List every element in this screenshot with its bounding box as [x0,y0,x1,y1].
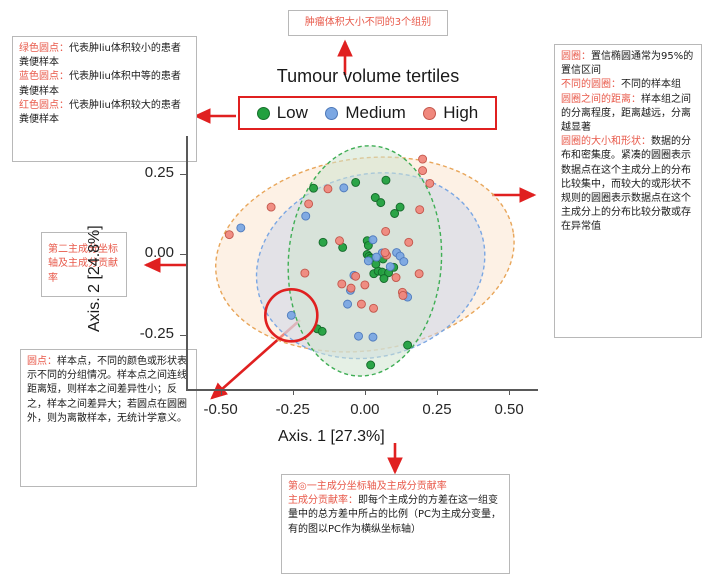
y-tick [180,254,186,255]
scatter-plot-canvas [186,136,538,389]
annotation-box-confidence-ellipse: 圆圈：置信椭圆通常为95%的置信区间 不同的圆圈：不同的样本组 圆圈之间的距离：… [554,44,702,338]
x-tick [221,389,222,395]
annotation-line-axis1-body: 主成分贡献率：即每个主成分的方差在这一组变量中的总方差中所占的比例（PC为主成分… [288,494,503,537]
legend-label-low: Low [277,103,308,123]
scatter-point-low [404,341,412,349]
scatter-point-high [335,237,343,245]
annotation-box-dot-colors: 绿色圆点：代表肿liu体积较小的患者粪便样本 蓝色圆点：代表肿liu体积中等的患… [12,36,197,162]
x-tick [509,389,510,395]
scatter-point-high [416,206,424,214]
scatter-point-high [415,270,423,278]
scatter-point-medium [369,333,377,341]
annotation-box-sample-points: 圆点：样本点，不同的颜色或形状表示不同的分组情况。样本点之间连线距离短，则样本之… [20,349,197,487]
scatter-point-high [382,227,390,235]
annotation-box-axis1: 第◎一主成分坐标轴及主成分贡献率 主成分贡献率：即每个主成分的方差在这一组变量中… [281,474,510,574]
scatter-point-low [318,327,326,335]
y-tick [180,335,186,336]
scatter-point-medium [369,236,377,244]
annotation-text-tumour-groups: 肿瘤体积大小不同的3个组别 [305,16,431,30]
scatter-point-high [357,300,365,308]
x-tick-label: -0.50 [199,401,243,418]
scatter-point-low [377,199,385,207]
annotation-line-green: 绿色圆点：代表肿liu体积较小的患者粪便样本 [19,42,190,70]
scatter-point-medium [344,300,352,308]
scatter-point-medium [287,311,295,319]
annotation-line-blue: 蓝色圆点：代表肿liu体积中等的患者粪便样本 [19,70,190,98]
scatter-point-medium [302,212,310,220]
legend-dot-high [423,107,436,120]
y-axis-line [186,136,188,389]
y-tick-label: 0.25 [128,164,174,181]
scatter-point-medium [386,263,394,271]
scatter-point-medium [400,258,408,266]
scatter-point-medium [372,253,380,261]
x-tick [437,389,438,395]
x-axis-title: Axis. 1 [27.3%] [278,428,385,446]
annotation-box-axis2: 第二主成分坐标轴及主成分贡献率 [41,232,127,297]
y-tick-label: -0.25 [128,325,174,342]
scatter-point-medium [340,184,348,192]
scatter-point-low [380,275,388,283]
annotation-line-red: 红色圆点：代表肿liu体积较大的患者粪便样本 [19,99,190,127]
x-tick-label: -0.25 [271,401,315,418]
legend-item-medium[interactable]: Medium [325,103,405,123]
y-axis-title: Axis. 2 [24.8%] [86,225,104,332]
x-tick [293,389,294,395]
y-tick [180,174,186,175]
annotation-line-axis1-title: 第◎一主成分坐标轴及主成分贡献率 [288,480,503,494]
scatter-point-low [391,210,399,218]
annotation-text-sample-points: 圆点：样本点，不同的颜色或形状表示不同的分组情况。样本点之间连线距离短，则样本之… [27,355,190,426]
scatter-point-high [419,155,427,163]
legend-item-low[interactable]: Low [257,103,308,123]
chart-title: Tumour volume tertiles [228,66,508,87]
scatter-point-low [310,184,318,192]
scatter-point-high [426,179,434,187]
y-tick-label: 0.00 [128,244,174,261]
x-axis-line [186,389,538,391]
annotation-text-axis2: 第二主成分坐标轴及主成分贡献率 [48,243,120,286]
annotation-para-ellipse-def: 圆圈：置信椭圆通常为95%的置信区间 [561,50,695,78]
annotation-box-tumour-groups: 肿瘤体积大小不同的3个组别 [288,10,448,36]
scatter-point-high [305,200,313,208]
annotation-para-ellipse-distance: 圆圈之间的距离：样本组之间的分离程度，距离越远，分离越显著 [561,93,695,136]
scatter-point-high [352,272,360,280]
x-tick-label: 0.25 [415,401,459,418]
pcoa-scatter-chart: Tumour volume tertiles Low Medium High -… [186,136,538,436]
scatter-point-low [367,361,375,369]
scatter-point-high [361,281,369,289]
x-tick-label: 0.00 [343,401,387,418]
scatter-point-low [396,203,404,211]
scatter-point-high [392,274,400,282]
legend-dot-low [257,107,270,120]
x-tick-label: 0.50 [487,401,531,418]
annotation-para-ellipse-shape: 圆圈的大小和形状：数据的分布和密集度。紧凑的圆圈表示数据点在这个主成分上的分布比… [561,135,695,234]
scatter-point-high [324,185,332,193]
plot-area [186,136,538,389]
scatter-point-high [338,280,346,288]
scatter-point-medium [364,257,372,265]
scatter-point-high [405,238,413,246]
scatter-point-high [419,167,427,175]
legend-item-high[interactable]: High [423,103,478,123]
scatter-point-high [225,231,233,239]
scatter-point-high [399,291,407,299]
scatter-point-high [381,249,389,257]
scatter-point-low [319,238,327,246]
scatter-point-medium [237,224,245,232]
legend-label-medium: Medium [345,103,405,123]
scatter-point-high [301,269,309,277]
scatter-point-high [347,284,355,292]
annotation-para-ellipse-groups: 不同的圆圈：不同的样本组 [561,78,695,92]
scatter-point-high [370,304,378,312]
scatter-point-high [267,203,275,211]
scatter-point-low [382,176,390,184]
legend-label-high: High [443,103,478,123]
scatter-point-low [352,178,360,186]
legend-dot-medium [325,107,338,120]
x-tick [365,389,366,395]
chart-legend: Low Medium High [238,96,497,130]
scatter-point-medium [355,332,363,340]
